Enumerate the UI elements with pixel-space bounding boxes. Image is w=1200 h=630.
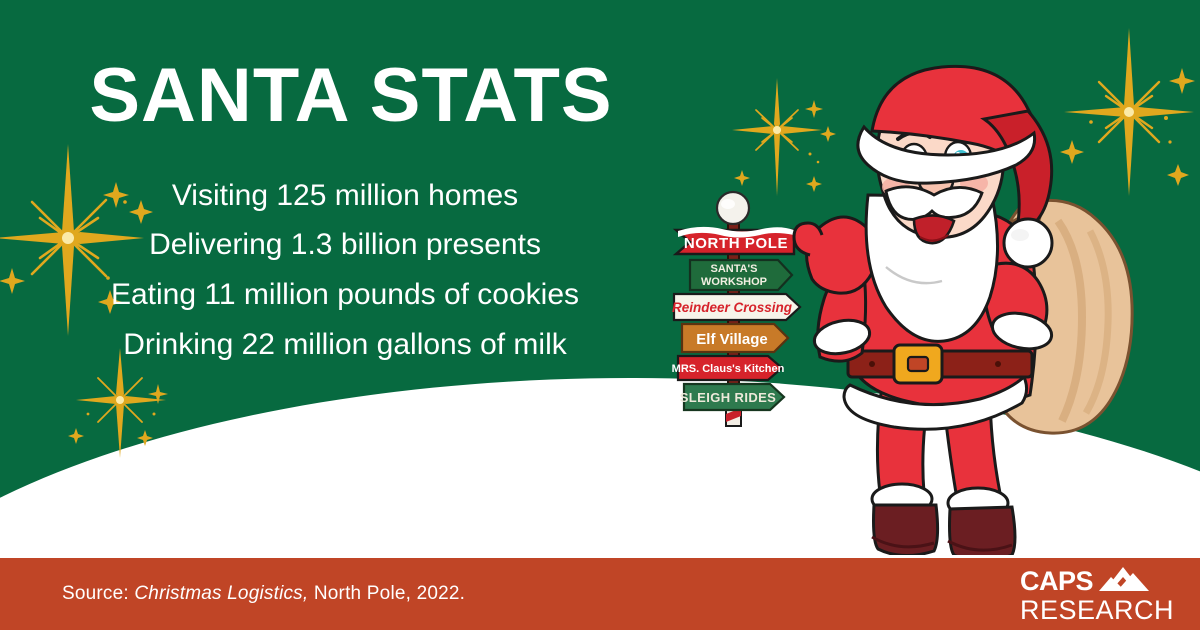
source-suffix: North Pole, 2022. [314, 583, 465, 604]
stat-line: Delivering 1.3 billion presents [0, 220, 690, 270]
signpost-illustration: NORTH POLE SANTA'S WORKSHOP Reindeer Cro… [660, 190, 810, 440]
logo-research-text: RESEARCH [1020, 597, 1174, 624]
sign-elf-village: Elf Village [682, 324, 788, 352]
santa-waving-arm [794, 217, 876, 361]
sign-reindeer-crossing: Reindeer Crossing [672, 294, 800, 320]
svg-text:Reindeer Crossing: Reindeer Crossing [672, 300, 793, 315]
stat-line: Eating 11 million pounds of cookies [0, 270, 690, 320]
svg-text:SANTA'S: SANTA'S [710, 263, 757, 275]
logo-top-row: CAPS [1020, 565, 1149, 595]
sign-mrs-claus-kitchen: MRS. Claus's Kitchen [672, 356, 785, 380]
svg-text:WORKSHOP: WORKSHOP [701, 276, 767, 288]
page-title: SANTA STATS [0, 56, 690, 137]
sign-north-pole: NORTH POLE [676, 227, 794, 254]
caps-research-logo[interactable]: CAPS RESEARCH [1020, 565, 1174, 624]
mountain-icon [1097, 565, 1149, 595]
text-block: SANTA STATS Visiting 125 million homes D… [0, 56, 690, 370]
svg-text:NORTH POLE: NORTH POLE [684, 235, 788, 252]
source-prefix: Source: [62, 583, 129, 604]
santa-illustration [790, 55, 1150, 555]
svg-text:MRS. Claus's Kitchen: MRS. Claus's Kitchen [672, 363, 785, 375]
source-title: Christmas Logistics, [134, 583, 308, 604]
source-citation: Source: Christmas Logistics, North Pole,… [62, 583, 465, 605]
logo-caps-text: CAPS [1020, 568, 1093, 595]
stat-line: Drinking 22 million gallons of milk [0, 320, 690, 370]
stats-list: Visiting 125 million homes Delivering 1.… [0, 171, 690, 370]
sign-sleigh-rides: SLEIGH RIDES [680, 384, 784, 410]
infographic-canvas: SANTA STATS Visiting 125 million homes D… [0, 0, 1200, 630]
stat-line: Visiting 125 million homes [0, 171, 690, 221]
footer-bar: Source: Christmas Logistics, North Pole,… [0, 558, 1200, 630]
svg-text:Elf Village: Elf Village [696, 331, 767, 348]
svg-text:SLEIGH RIDES: SLEIGH RIDES [680, 390, 777, 405]
sign-santas-workshop: SANTA'S WORKSHOP [690, 260, 792, 290]
